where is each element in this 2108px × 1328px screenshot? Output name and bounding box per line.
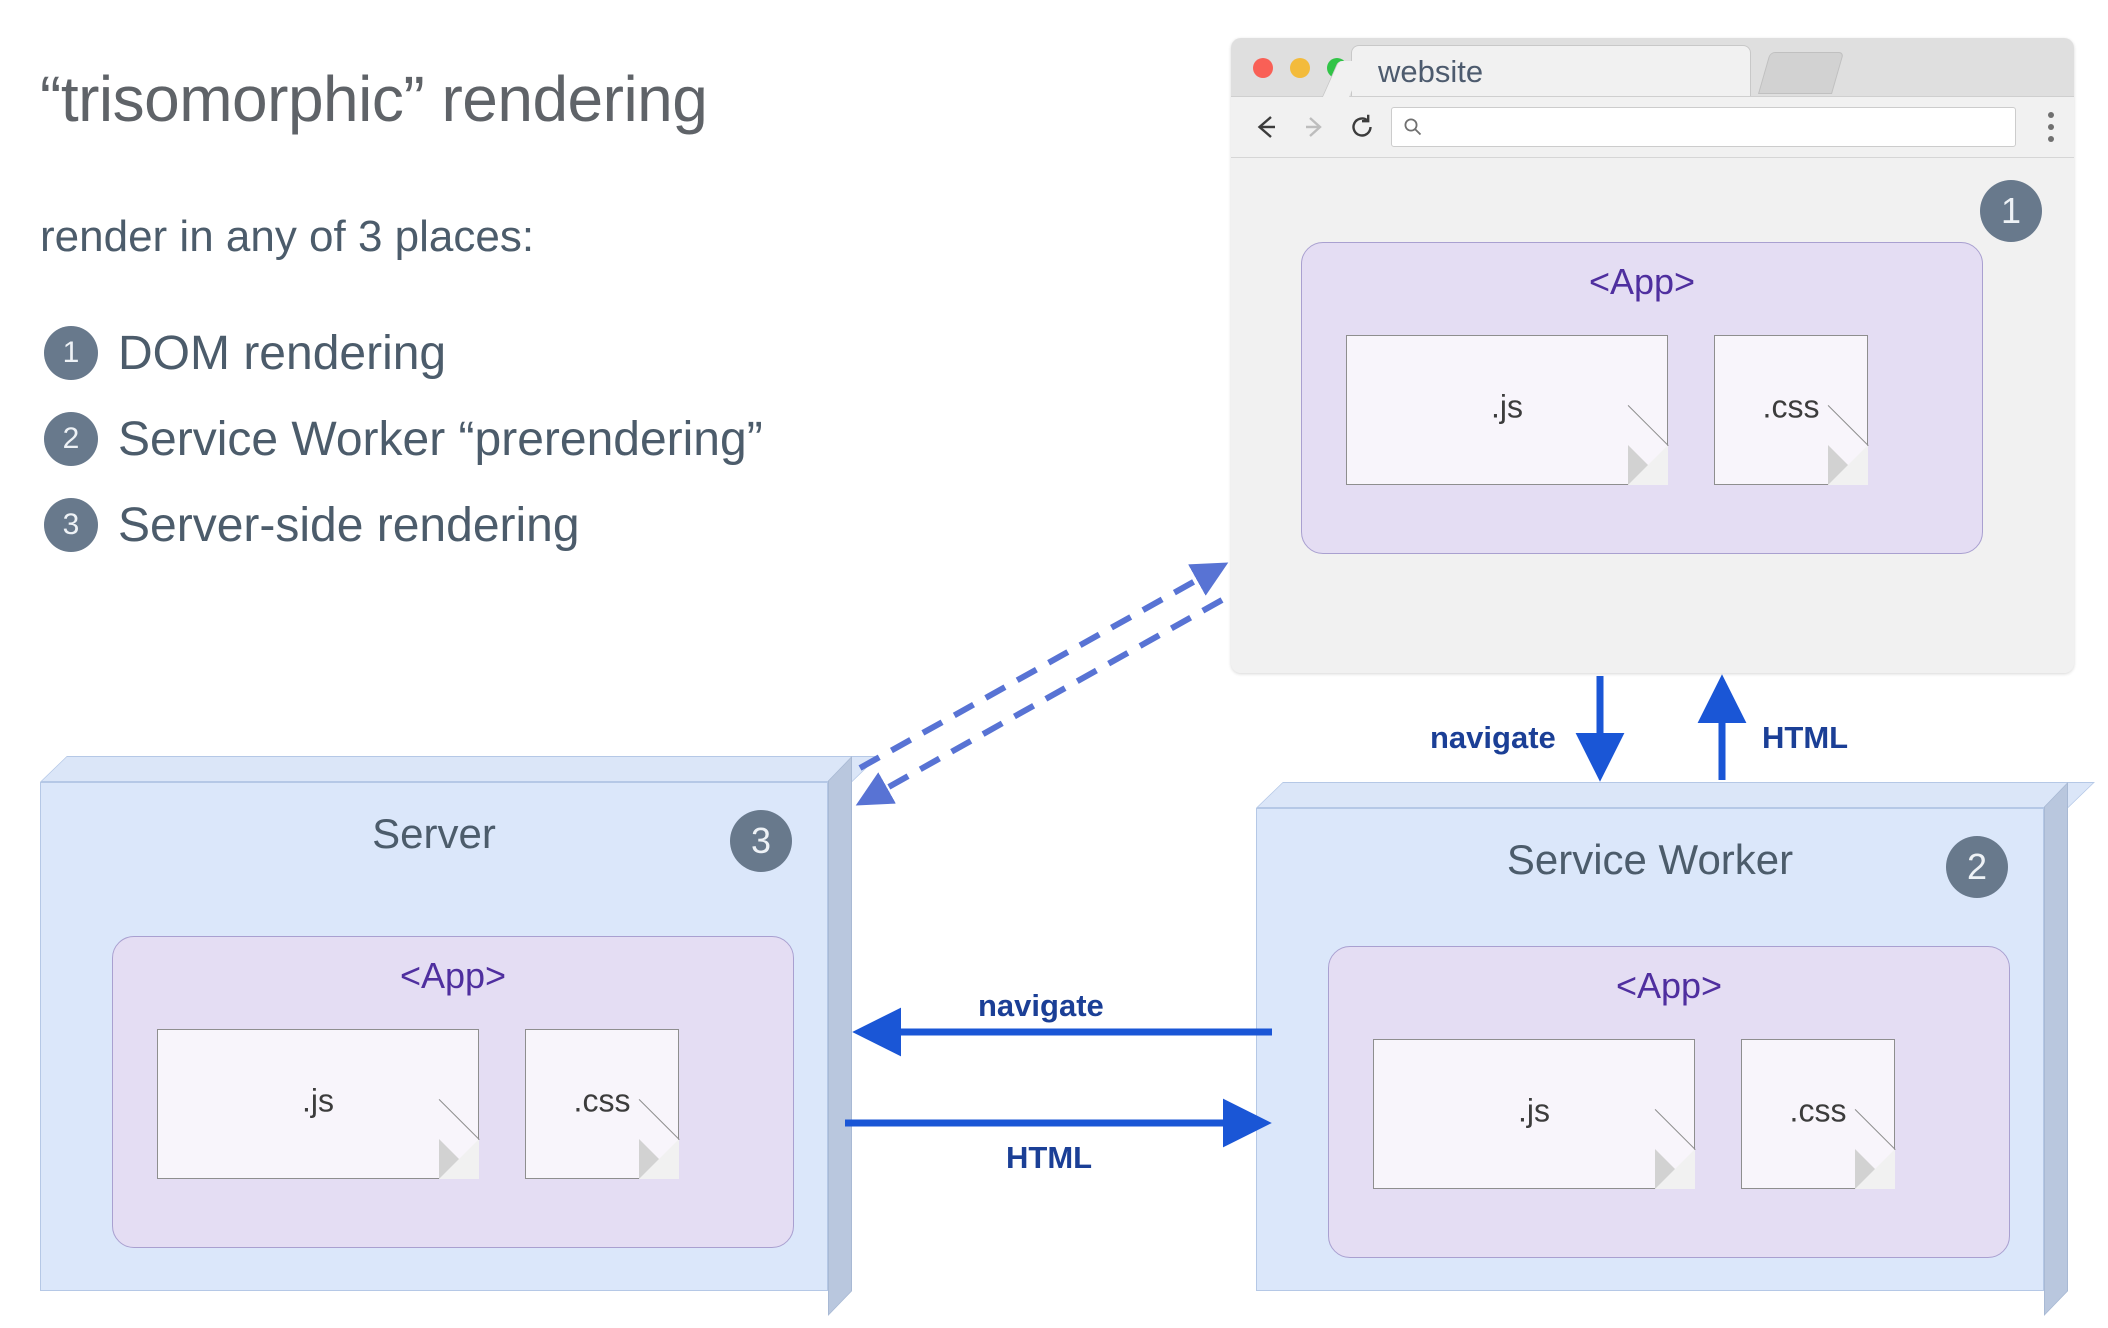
list-item: 3 Server-side rendering [44, 482, 1024, 568]
list-item-label: Service Worker “prerendering” [118, 412, 763, 467]
step-badge-1: 1 [1980, 180, 2042, 242]
browser-tab[interactable]: website [1351, 45, 1751, 96]
js-file-icon: .js [1373, 1039, 1695, 1189]
reload-icon[interactable] [1345, 110, 1379, 144]
css-file-icon: .css [525, 1029, 679, 1179]
app-container-browser: <App> .js .css [1301, 242, 1983, 554]
app-label: <App> [1302, 261, 1982, 303]
js-file-label: .js [1374, 1093, 1694, 1130]
dashed-arrow-server-to-browser [860, 566, 1222, 768]
dashed-arrow-browser-to-server [862, 600, 1222, 802]
arrow-label-navigate-left: navigate [978, 988, 1104, 1024]
url-input[interactable] [1391, 107, 2016, 147]
list-item: 1 DOM rendering [44, 310, 1024, 396]
list-bullet-1: 1 [44, 326, 98, 380]
browser-tabstrip: website [1231, 38, 2074, 97]
browser-viewport: 1 <App> .js .css [1231, 158, 2074, 673]
slide-subtitle: render in any of 3 places: [40, 212, 534, 262]
minimize-window-button[interactable] [1290, 58, 1310, 78]
js-file-label: .js [1347, 389, 1667, 426]
list-bullet-3: 3 [44, 498, 98, 552]
service-worker-box-side-face [2044, 782, 2068, 1316]
slide-canvas: “trisomorphic” rendering render in any o… [0, 0, 2108, 1328]
step-badge-3: 3 [730, 810, 792, 872]
app-label: <App> [113, 955, 793, 997]
close-window-button[interactable] [1253, 58, 1273, 78]
app-label: <App> [1329, 965, 2009, 1007]
js-file-label: .js [158, 1083, 478, 1120]
list-bullet-2: 2 [44, 412, 98, 466]
app-container-server: <App> .js .css [112, 936, 794, 1248]
browser-window: website [1231, 38, 2074, 673]
app-container-service-worker: <App> .js .css [1328, 946, 2010, 1258]
service-worker-box-top-face [1256, 782, 2095, 808]
back-arrow-icon[interactable] [1249, 110, 1283, 144]
js-file-icon: .js [157, 1029, 479, 1179]
list-item-label: Server-side rendering [118, 498, 580, 553]
service-worker-box: Service Worker 2 <App> .js .css [1256, 782, 2068, 1291]
render-places-list: 1 DOM rendering 2 Service Worker “preren… [44, 310, 1024, 568]
server-box-side-face [828, 756, 852, 1316]
service-worker-title: Service Worker [1256, 836, 2044, 884]
arrow-label-html-right: HTML [1006, 1140, 1092, 1176]
browser-tab-label: website [1378, 54, 1483, 90]
server-title: Server [40, 810, 828, 858]
arrow-label-navigate-down: navigate [1430, 720, 1556, 756]
slide-title: “trisomorphic” rendering [40, 62, 707, 136]
forward-arrow-icon[interactable] [1297, 110, 1331, 144]
server-box: Server 3 <App> .js .css [40, 756, 852, 1291]
list-item: 2 Service Worker “prerendering” [44, 396, 1024, 482]
new-tab-button[interactable] [1758, 52, 1844, 94]
arrow-label-html-up: HTML [1762, 720, 1848, 756]
search-icon [1402, 116, 1424, 138]
list-item-label: DOM rendering [118, 326, 446, 381]
css-file-icon: .css [1741, 1039, 1895, 1189]
js-file-icon: .js [1346, 335, 1668, 485]
step-badge-2: 2 [1946, 836, 2008, 898]
kebab-menu-icon[interactable] [2048, 112, 2054, 142]
css-file-icon: .css [1714, 335, 1868, 485]
server-box-top-face [40, 756, 879, 782]
browser-toolbar [1231, 97, 2074, 158]
